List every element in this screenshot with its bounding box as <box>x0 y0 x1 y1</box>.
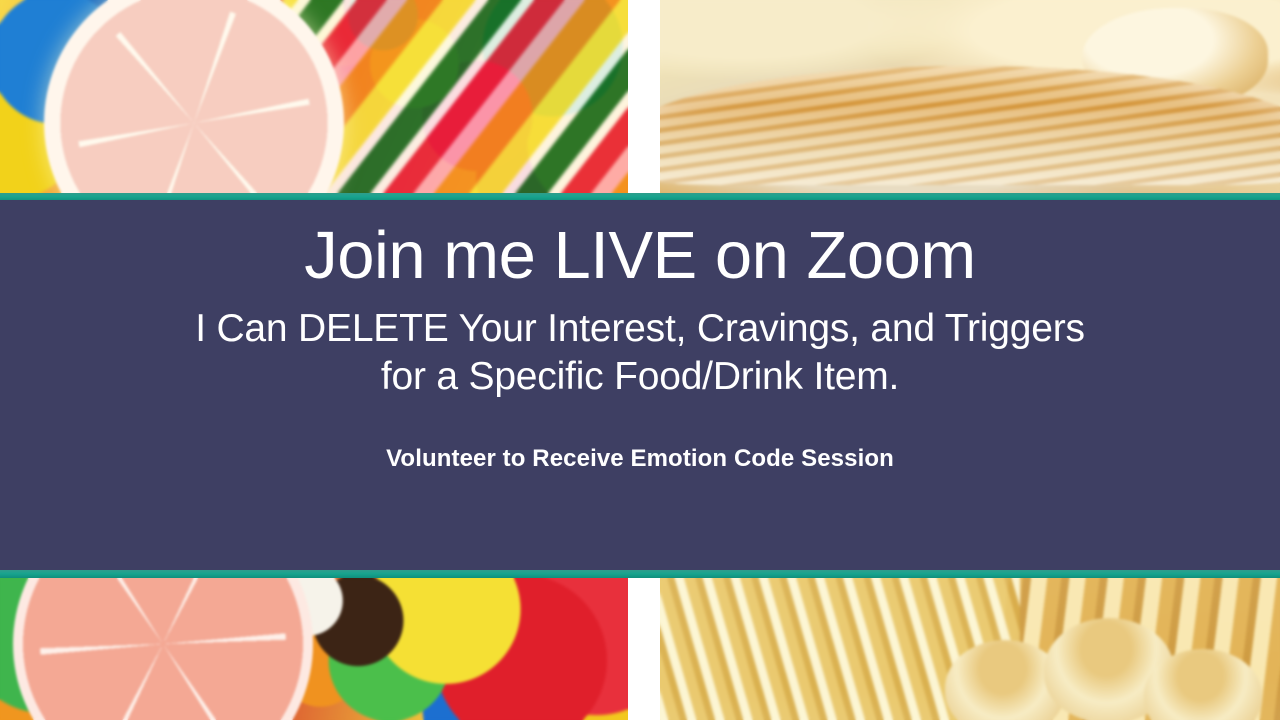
headline: Join me LIVE on Zoom <box>304 222 975 289</box>
citrus-slice-icon <box>44 0 344 193</box>
colorful-candy-and-grapefruit-photo <box>0 578 628 720</box>
bread-crust-shape <box>660 66 1280 186</box>
bread-loaves-photo <box>660 0 1280 193</box>
divider-teal-bottom <box>0 570 1280 578</box>
pasta-fusilli-and-breadsticks-photo <box>660 578 1280 720</box>
subline-secondary: for a Specific Food/Drink Item. <box>381 353 899 401</box>
candy-and-citrus-slice-photo <box>0 0 628 193</box>
message-banner: Join me LIVE on Zoom I Can DELETE Your I… <box>0 200 1280 570</box>
volunteer-callout: Volunteer to Receive Emotion Code Sessio… <box>386 445 894 474</box>
top-photo-strip <box>0 0 1280 193</box>
subline-primary: I Can DELETE Your Interest, Cravings, an… <box>195 305 1085 353</box>
photo-gutter <box>628 0 660 193</box>
grapefruit-slice-icon <box>13 578 313 720</box>
promo-slide: Join me LIVE on Zoom I Can DELETE Your I… <box>0 0 1280 720</box>
bottom-photo-strip <box>0 578 1280 720</box>
photo-gutter <box>628 578 660 720</box>
